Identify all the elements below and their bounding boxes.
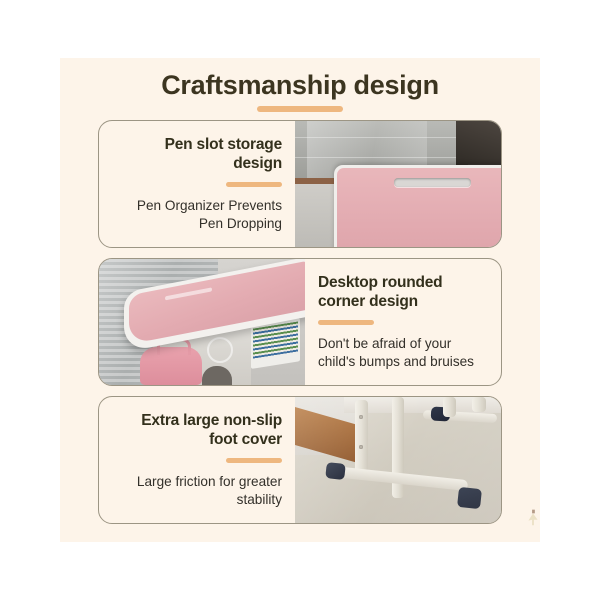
feature-card-body: Pen Organizer Prevents Pen Dropping [112, 197, 282, 233]
pink-desk-rounded-corner-photo [99, 259, 305, 385]
product-infographic-poster: Craftsmanship design Pen slot storage de… [0, 0, 600, 600]
photo-desk-frame [334, 165, 501, 247]
photo-cabinet-opening [202, 366, 232, 385]
feature-card-rounded-corner[interactable]: Desktop rounded corner design Don't be a… [98, 258, 502, 386]
corner-watermark [522, 506, 544, 528]
photo-desk-pink-surface [337, 168, 501, 247]
feature-card-divider [318, 320, 374, 325]
feature-card-text-block: Desktop rounded corner design Don't be a… [305, 259, 501, 385]
photo-books [253, 321, 298, 358]
feature-card-pen-slot[interactable]: Pen slot storage design Pen Organizer Pr… [98, 120, 502, 248]
page-title-text: Craftsmanship design [60, 68, 540, 102]
photo-cabinet-clock-emboss [207, 337, 233, 363]
cream-content-panel: Craftsmanship design Pen slot storage de… [60, 58, 540, 542]
pink-desktop-pen-slot-photo [295, 121, 501, 247]
feature-card-divider [226, 458, 282, 463]
feature-card-text-block: Extra large non-slip foot cover Large fr… [99, 397, 295, 523]
page-title: Craftsmanship design [60, 68, 540, 112]
feature-card-heading: Desktop rounded corner design [318, 273, 488, 311]
photo-pink-backpack [140, 347, 202, 385]
feature-card-heading: Pen slot storage design [112, 135, 282, 173]
photo-pen-slot-groove [165, 287, 212, 300]
feature-card-body: Don't be afraid of your child's bumps an… [318, 335, 488, 371]
feature-card-foot-cover[interactable]: Extra large non-slip foot cover Large fr… [98, 396, 502, 524]
feature-card-body: Large friction for greater stability [112, 473, 282, 509]
feature-card-text-block: Pen slot storage design Pen Organizer Pr… [99, 121, 295, 247]
photo-pen-slot-groove [394, 178, 471, 187]
feature-card-heading: Extra large non-slip foot cover [112, 411, 282, 449]
desk-legs-foot-cover-photo [295, 397, 501, 523]
photo-floor-sheen [295, 397, 501, 523]
feature-card-divider [226, 182, 282, 187]
title-underline-accent [257, 106, 343, 112]
